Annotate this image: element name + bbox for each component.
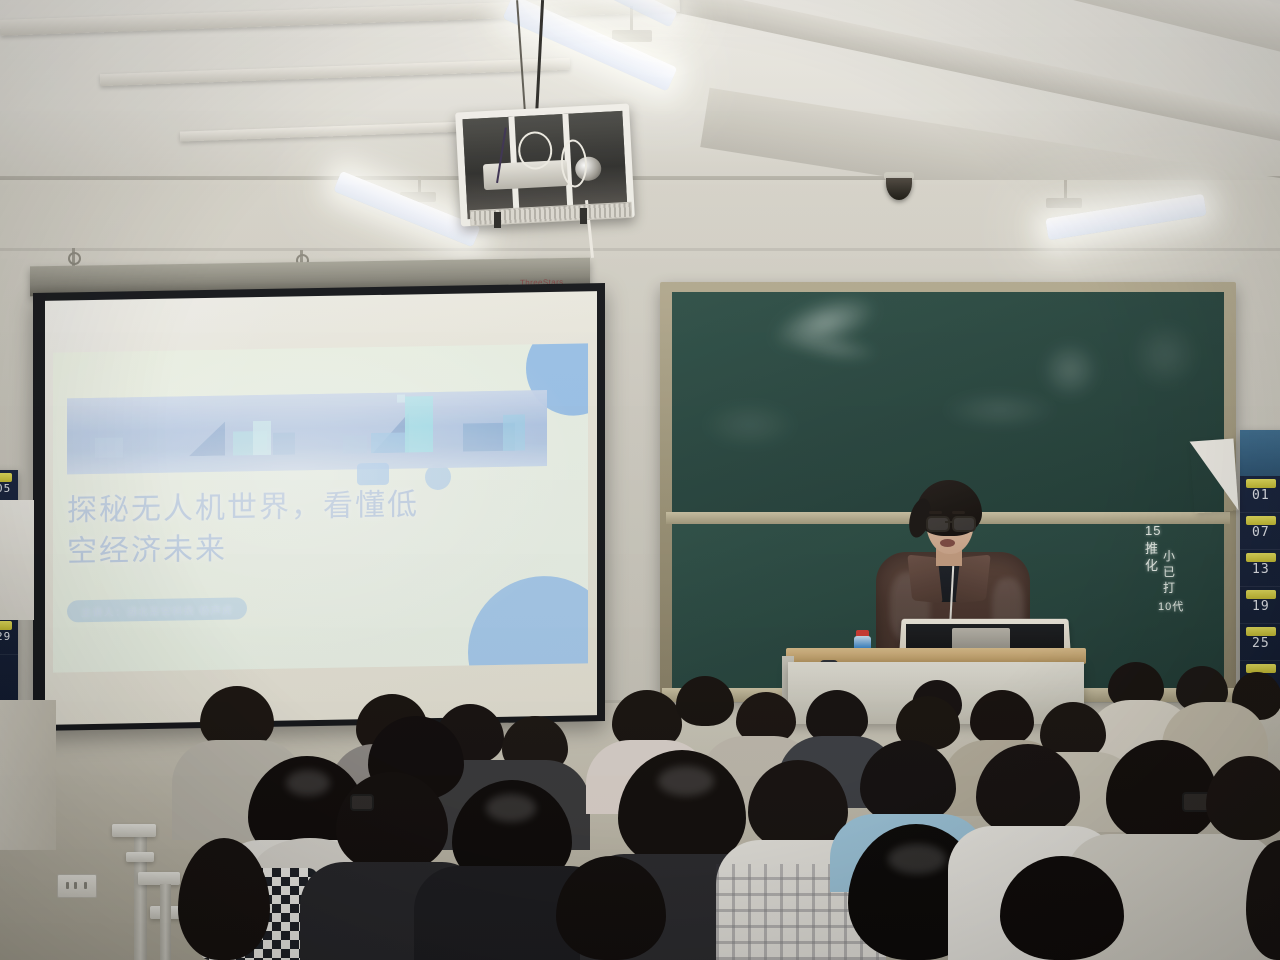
seat-post (160, 884, 171, 960)
outlet-slot (74, 882, 77, 889)
speaker-mouth (940, 539, 955, 547)
calendar-cell: 29 (0, 618, 18, 655)
chalk-smudge (1040, 340, 1100, 400)
wall-power-outlet (57, 874, 97, 898)
calendar-number: 19 (1252, 599, 1270, 614)
calendar-cell: 19 (1240, 587, 1280, 624)
calendar-tab (1246, 516, 1276, 525)
chalk-line: 小 (1163, 548, 1189, 564)
hair-highlight (286, 770, 330, 796)
chalk-smudge (700, 400, 800, 450)
room-column (0, 700, 56, 850)
calendar-tab (1246, 627, 1276, 636)
seat-armrest (126, 852, 154, 862)
calendar-cell: 07 (1240, 513, 1280, 550)
hair-highlight (658, 766, 714, 796)
wall-calendar-right[interactable]: 01 07 13 19 25 31 (1240, 430, 1280, 692)
calendar-tab (1246, 479, 1276, 488)
blackboard-chalk-writing-3: 10代 (1158, 600, 1184, 615)
light-cap-1 (612, 30, 652, 42)
calendar-number: 29 (0, 630, 11, 643)
chalk-line: 已 (1163, 564, 1189, 580)
blackboard-chalk-writing-2: 小 已 打 (1163, 548, 1189, 597)
calendar-tab (1246, 590, 1276, 599)
hair-highlight (486, 794, 536, 822)
screen-hook-1 (68, 252, 81, 265)
audience-head (970, 690, 1034, 746)
chalk-line: 打 (1163, 580, 1189, 596)
calendar-tab (1246, 553, 1276, 562)
calendar-cell: 25 (1240, 624, 1280, 661)
vent-clip-left (494, 212, 501, 228)
calendar-cell: 01 (1240, 476, 1280, 513)
chalk-smudge (1130, 320, 1200, 390)
speaker-glasses-left (926, 516, 950, 532)
calendar-number: 01 (1252, 488, 1270, 503)
speaker-glasses-right (952, 516, 976, 532)
hair-highlight (888, 844, 946, 874)
calendar-number: 25 (1252, 636, 1270, 651)
outlet-slot (66, 882, 69, 889)
speaker-brow-left (929, 511, 942, 514)
lecture-hall-photo: ThreeStars 探秘无人机世界，看懂低 空经济未来 (0, 0, 1280, 960)
light-cap-3 (1046, 198, 1082, 208)
calendar-number: 07 (1252, 525, 1270, 540)
audience-glasses (350, 794, 374, 811)
calendar-tab (0, 621, 12, 630)
presentation-slide: 探秘无人机世界，看懂低 空经济未来 主讲人：湖北某空科技 杨声虎 (53, 343, 588, 672)
vent-clip-right (580, 208, 587, 224)
calendar-header (1240, 430, 1280, 476)
calendar-number: 05 (0, 482, 11, 495)
calendar-left-peeling-corner (0, 500, 34, 620)
speaker-brow-right (952, 511, 965, 514)
calendar-tab (0, 473, 12, 482)
chalk-line: 15 (1145, 522, 1171, 540)
slide-projector-glow (53, 343, 588, 672)
audience-head (676, 676, 734, 726)
seat-armrest (138, 872, 180, 885)
seat-armrest (112, 824, 156, 837)
calendar-peeling-corner (1190, 439, 1239, 514)
chalk-smudge (940, 390, 1060, 430)
wall-seam (0, 248, 1280, 251)
seat-post (134, 828, 147, 960)
calendar-cell: 13 (1240, 550, 1280, 587)
calendar-number: 13 (1252, 562, 1270, 577)
outlet-slot (84, 882, 87, 889)
speaker-glasses-bridge (945, 521, 952, 523)
